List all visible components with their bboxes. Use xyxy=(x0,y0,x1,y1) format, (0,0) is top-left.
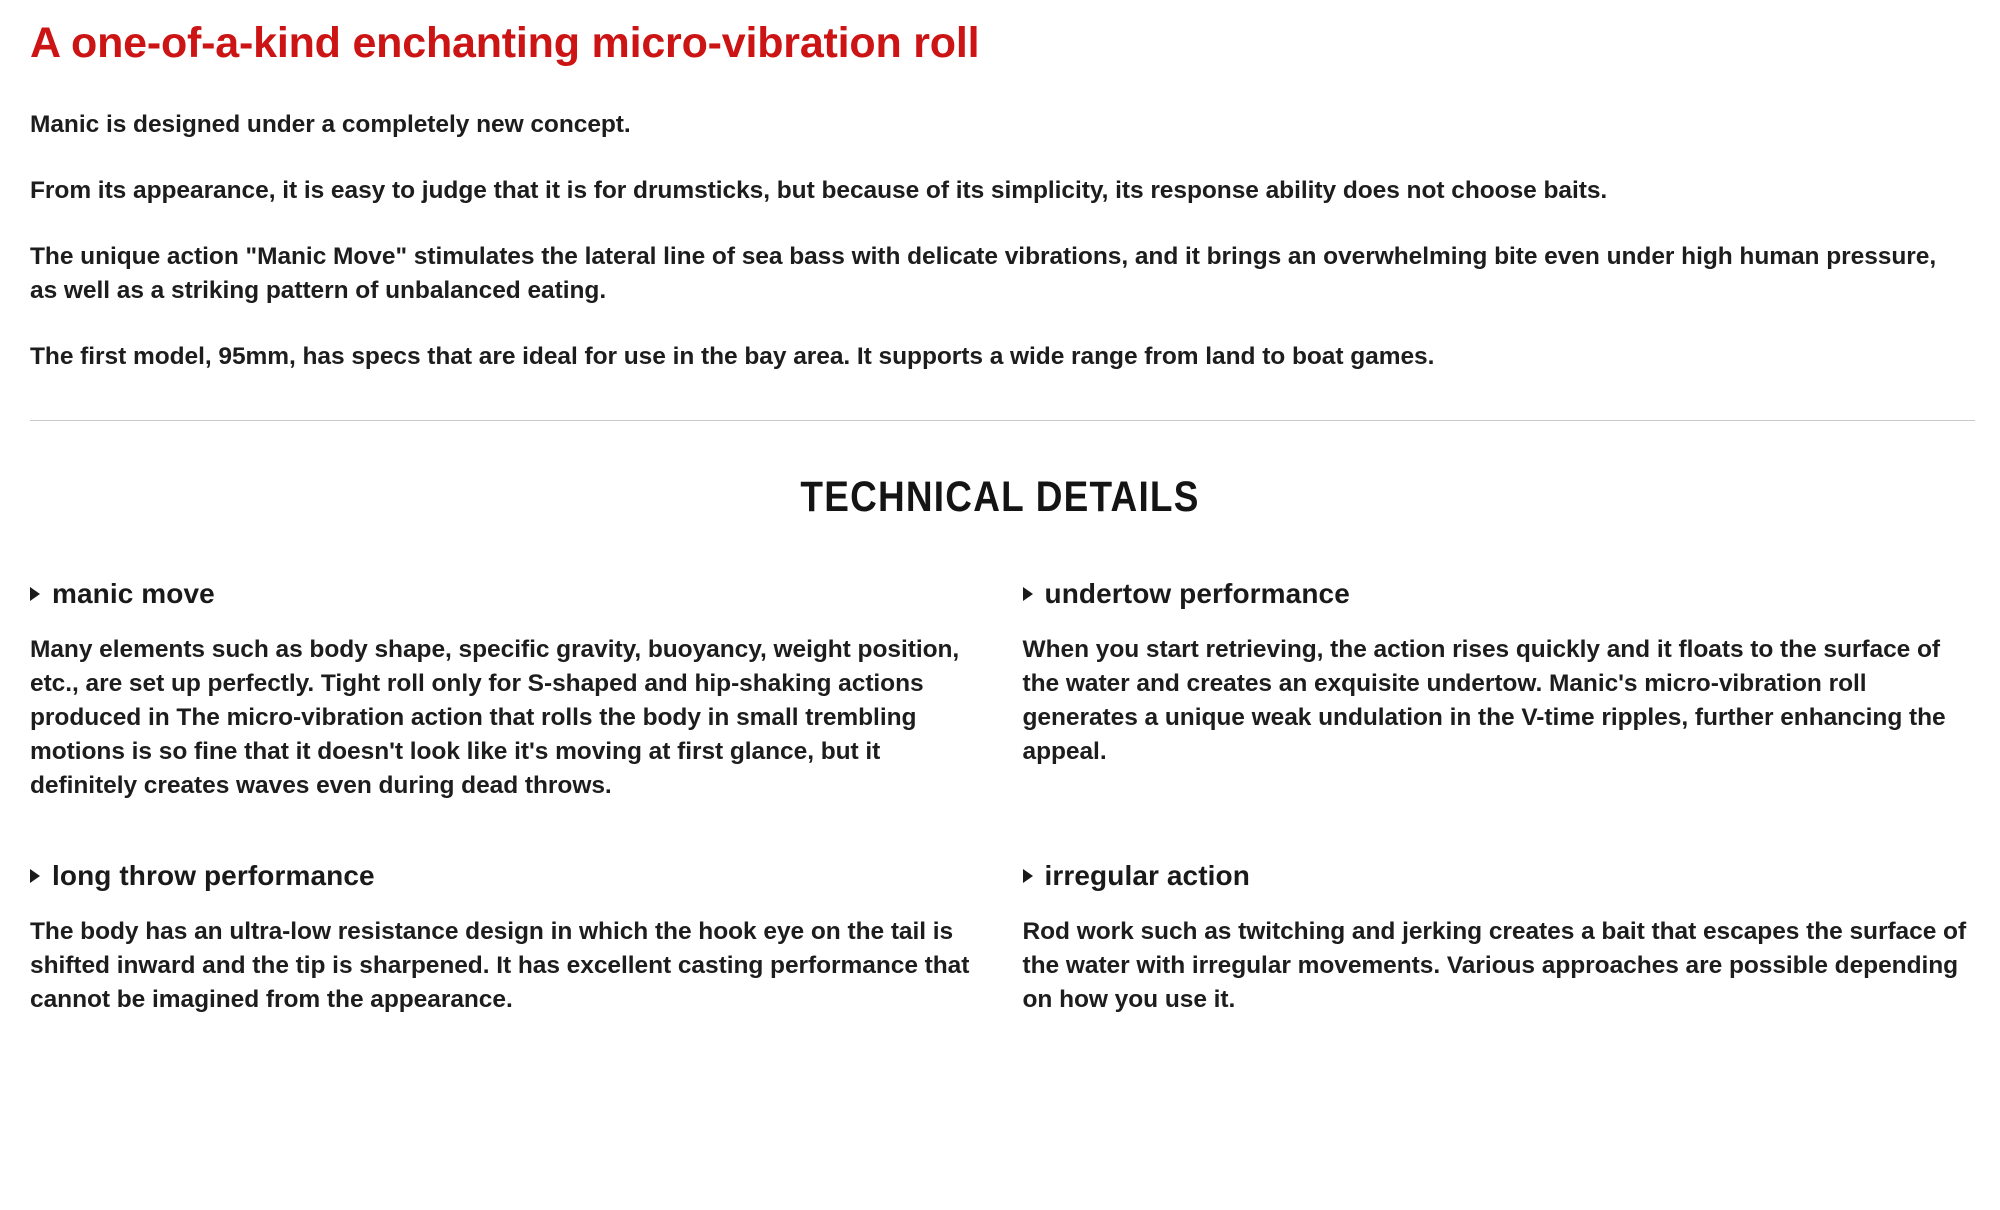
tech-section-body: The body has an ultra-low resistance des… xyxy=(30,915,978,1016)
tech-section-long-throw-performance: long throw performance The body has an u… xyxy=(30,860,978,1016)
triangle-right-icon xyxy=(30,869,40,883)
page-title: A one-of-a-kind enchanting micro-vibrati… xyxy=(30,0,1970,68)
tech-section-irregular-action: irregular action Rod work such as twitch… xyxy=(1023,860,1971,1016)
intro-paragraph-2: From its appearance, it is easy to judge… xyxy=(30,174,1955,208)
tech-section-title: long throw performance xyxy=(52,860,375,892)
tech-section-heading: manic move xyxy=(30,578,978,610)
tech-section-title: undertow performance xyxy=(1045,578,1350,610)
triangle-right-icon xyxy=(1023,587,1033,601)
intro-paragraphs: Manic is designed under a completely new… xyxy=(30,108,1970,373)
tech-section-body: When you start retrieving, the action ri… xyxy=(1023,633,1971,768)
intro-paragraph-1: Manic is designed under a completely new… xyxy=(30,108,1955,142)
tech-section-title: irregular action xyxy=(1045,860,1250,892)
tech-section-heading: undertow performance xyxy=(1023,578,1971,610)
tech-section-body: Many elements such as body shape, specif… xyxy=(30,633,978,802)
tech-section-manic-move: manic move Many elements such as body sh… xyxy=(30,578,978,860)
tech-section-undertow-performance: undertow performance When you start retr… xyxy=(1023,578,1971,860)
tech-section-heading: irregular action xyxy=(1023,860,1971,892)
triangle-right-icon xyxy=(30,587,40,601)
triangle-right-icon xyxy=(1023,869,1033,883)
technical-details-heading: TECHNICAL DETAILS xyxy=(166,421,1834,522)
tech-section-title: manic move xyxy=(52,578,215,610)
intro-paragraph-3: The unique action "Manic Move" stimulate… xyxy=(30,240,1955,308)
intro-paragraph-4: The first model, 95mm, has specs that ar… xyxy=(30,340,1955,374)
technical-details-grid: manic move Many elements such as body sh… xyxy=(30,578,1970,1016)
tech-section-body: Rod work such as twitching and jerking c… xyxy=(1023,915,1971,1016)
product-description-page: A one-of-a-kind enchanting micro-vibrati… xyxy=(0,0,2000,1210)
tech-section-heading: long throw performance xyxy=(30,860,978,892)
